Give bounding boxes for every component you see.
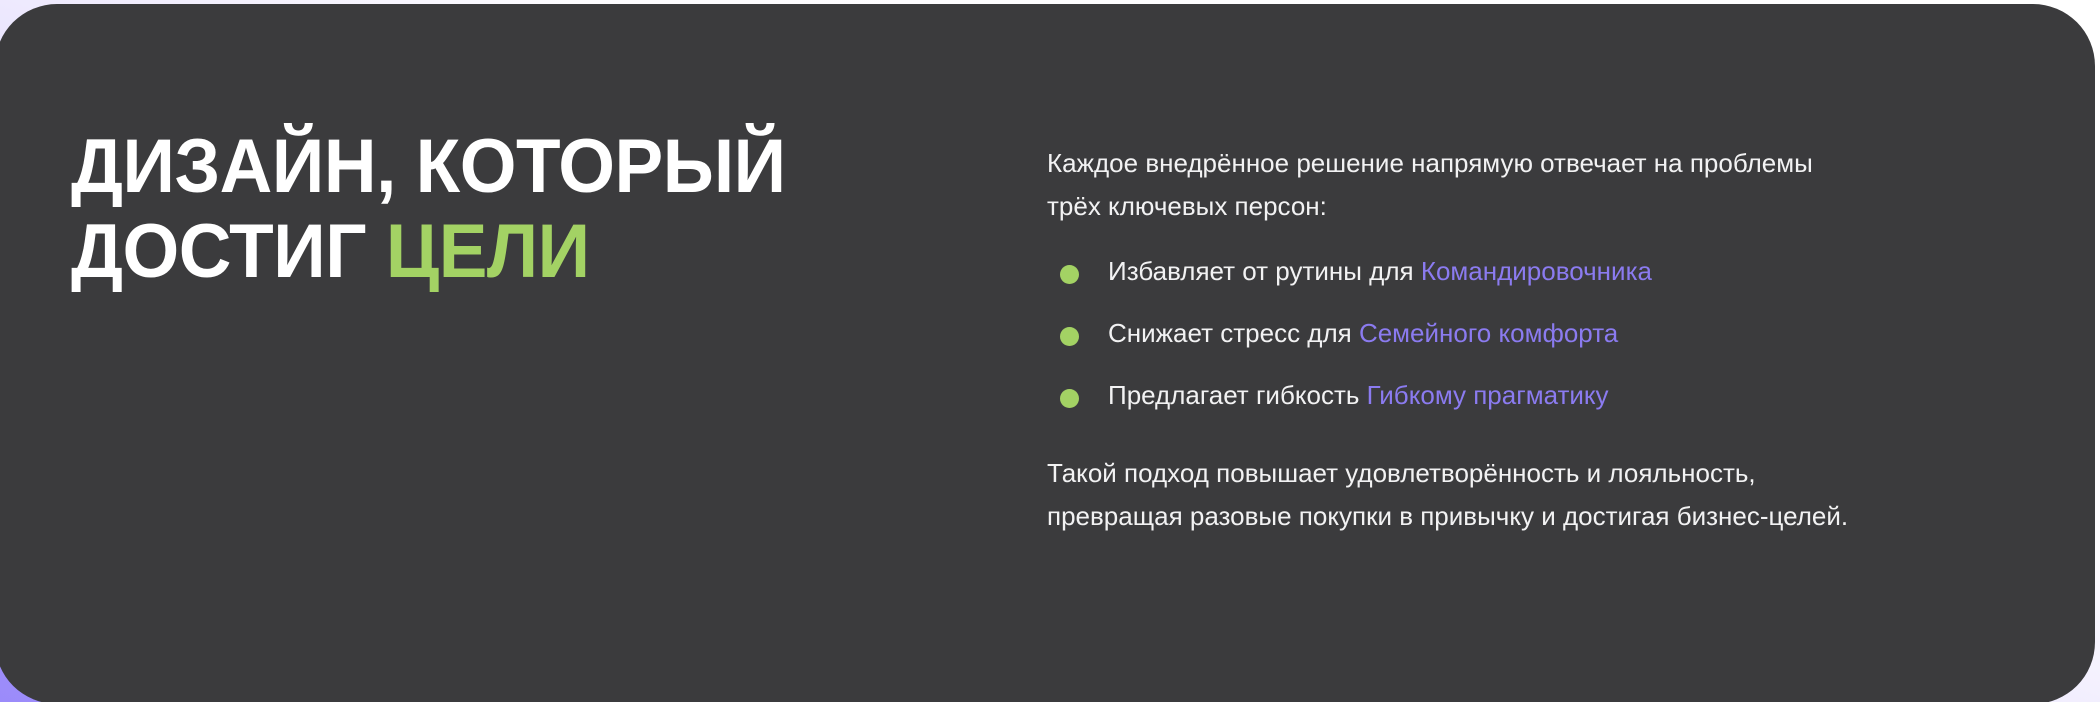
list-item: Снижает стресс для Семейного комфорта xyxy=(1047,314,2007,353)
closing-paragraph: Такой подход повышает удовлетворённость … xyxy=(1047,452,1887,538)
green-dot-icon xyxy=(1060,327,1079,346)
benefits-list: Избавляет от рутины для Командировочника… xyxy=(1047,252,2007,415)
list-item: Избавляет от рутины для Командировочника xyxy=(1047,252,2007,291)
content-card: ДИЗАЙН, КОТОРЫЙДОСТИГ ЦЕЛИ Каждое внедрё… xyxy=(0,4,2095,702)
lead-paragraph: Каждое внедрённое решение напрямую отвеч… xyxy=(1047,142,1847,228)
card-inner: ДИЗАЙН, КОТОРЫЙДОСТИГ ЦЕЛИ Каждое внедрё… xyxy=(0,4,2095,702)
slide-page: ДИЗАЙН, КОТОРЫЙДОСТИГ ЦЕЛИ Каждое внедрё… xyxy=(0,0,2100,702)
persona-label: Семейного комфорта xyxy=(1359,318,1618,348)
list-item-text: Предлагает гибкость xyxy=(1108,380,1367,410)
persona-label: Командировочника xyxy=(1421,256,1652,286)
heading-column: ДИЗАЙН, КОТОРЫЙДОСТИГ ЦЕЛИ xyxy=(71,124,971,294)
heading-line-2-accent: ЦЕЛИ xyxy=(386,209,590,294)
page-title: ДИЗАЙН, КОТОРЫЙДОСТИГ ЦЕЛИ xyxy=(71,124,935,294)
list-item: Предлагает гибкость Гибкому прагматику xyxy=(1047,376,2007,415)
persona-label: Гибкому прагматику xyxy=(1367,380,1609,410)
list-item-text: Снижает стресс для xyxy=(1108,318,1359,348)
body-column: Каждое внедрённое решение напрямую отвеч… xyxy=(1047,142,2007,538)
green-dot-icon xyxy=(1060,265,1079,284)
heading-line-1: ДИЗАЙН, КОТОРЫЙ xyxy=(71,124,786,209)
green-dot-icon xyxy=(1060,389,1079,408)
heading-line-2-plain: ДОСТИГ xyxy=(71,209,386,294)
list-item-text: Избавляет от рутины для xyxy=(1108,256,1421,286)
